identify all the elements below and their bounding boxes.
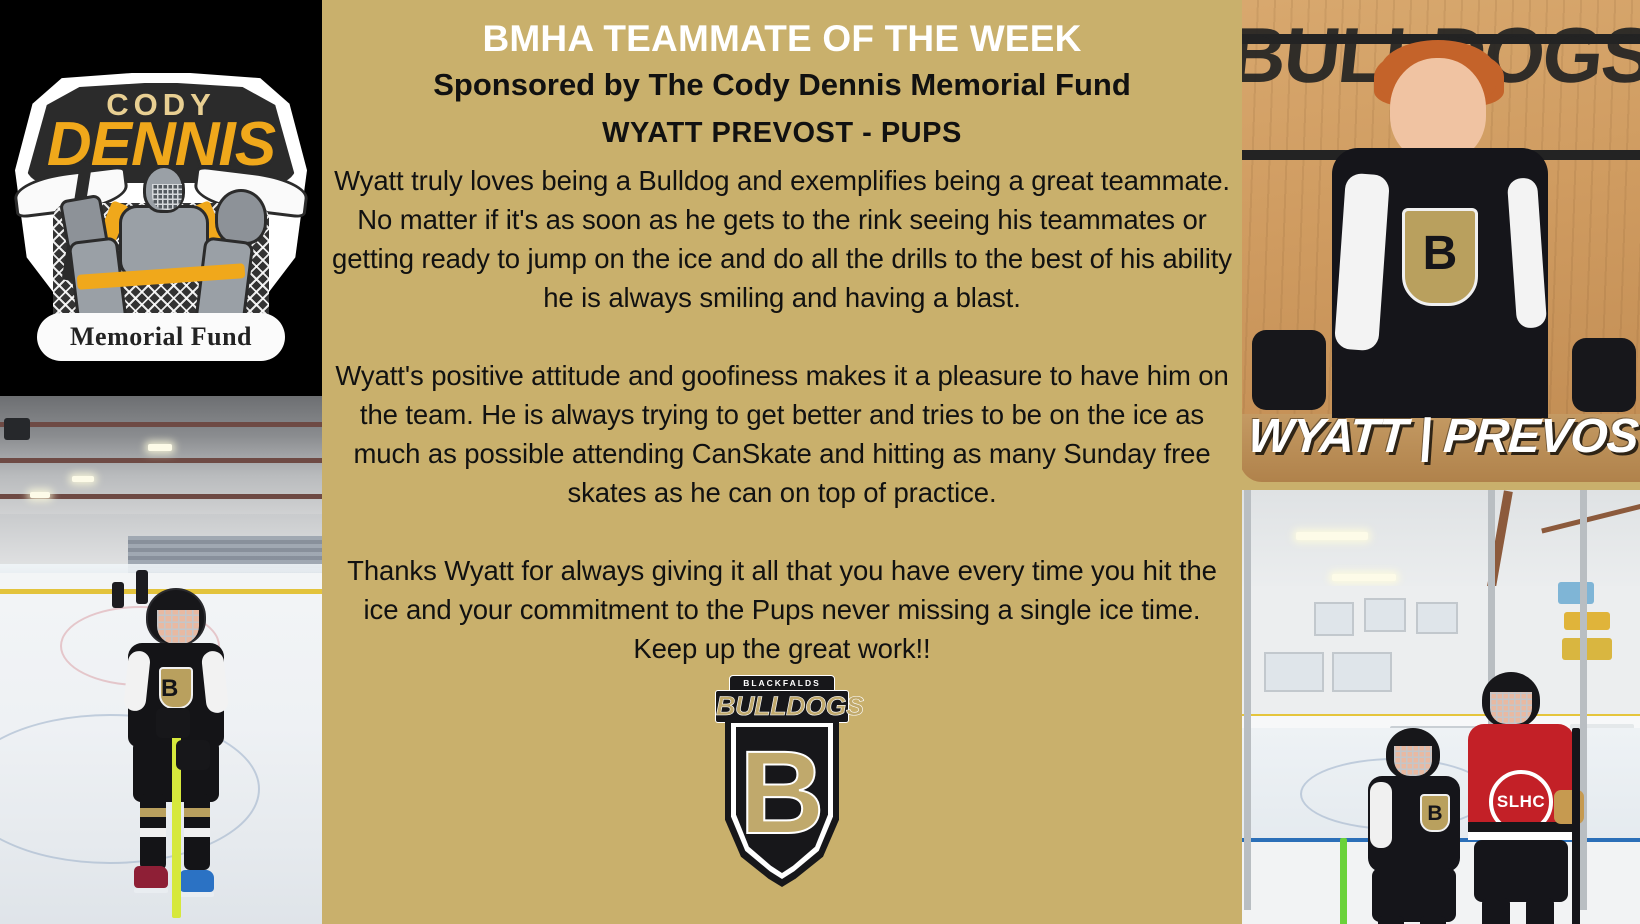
portrait-jersey-white-panel-right xyxy=(1507,177,1547,329)
honoree-name: WYATT PREVOST - PUPS xyxy=(330,116,1234,151)
left-column: CODY DENNIS Memorial Fund xyxy=(0,0,322,924)
bulldogs-logo-team-bar: BULLDOGS xyxy=(715,690,849,723)
rink-beam xyxy=(0,422,322,427)
player-glove-right xyxy=(176,740,210,770)
arena-light xyxy=(1296,532,1368,540)
rink-beam xyxy=(0,458,322,463)
action-red-pants xyxy=(1474,840,1568,902)
page-title: BMHA TEAMMATE OF THE WEEK xyxy=(330,18,1234,59)
portrait-glove-right xyxy=(1572,338,1636,412)
player-sock-right xyxy=(184,794,210,870)
player-helmet xyxy=(146,588,206,646)
action-red-cage xyxy=(1490,692,1532,724)
teammate-of-the-week-poster: CODY DENNIS Memorial Fund xyxy=(0,0,1640,924)
arena-banner xyxy=(1558,582,1594,604)
player-sock-stripe xyxy=(140,828,166,837)
logo-goalie-mask-icon xyxy=(143,165,185,213)
bulldogs-logo-team-text: BULLDOGS xyxy=(716,691,848,721)
portrait-face xyxy=(1390,58,1486,162)
bulldogs-logo-shield-inner: B xyxy=(736,727,828,873)
player-cage xyxy=(157,610,199,644)
player-sock-stripe xyxy=(184,828,210,837)
portrait-jersey-white-panel-left xyxy=(1334,173,1390,352)
logo-goalie-catcher-icon xyxy=(215,189,267,245)
bulldogs-logo-shield: B xyxy=(725,719,839,887)
logo-memorial-fund-text: Memorial Fund xyxy=(37,313,285,361)
arena-banner xyxy=(1562,638,1612,660)
paragraph-2: Wyatt's positive attitude and goofiness … xyxy=(330,356,1234,512)
rink-light xyxy=(30,492,50,498)
logo-banner: Memorial Fund xyxy=(37,313,285,361)
player-skate-blade xyxy=(134,888,168,893)
arena-glass-post xyxy=(1244,490,1251,910)
paragraph-gap xyxy=(330,512,1234,551)
rink-light xyxy=(148,444,172,451)
right-column: BULLDOGS B WYATT | PREVOST xyxy=(1240,0,1640,924)
action-red-jersey-stripe xyxy=(1468,832,1574,840)
rink-boards xyxy=(0,573,322,590)
portrait-name-overlay: WYATT | PREVOST xyxy=(1246,409,1640,464)
player-skate-left xyxy=(134,866,168,888)
action-green-stick xyxy=(1340,838,1347,924)
bulldogs-logo-shield-outline: B xyxy=(731,723,833,879)
blackfalds-bulldogs-logo: BLACKFALDS BULLDOGS B xyxy=(715,675,849,890)
arena-glass-post xyxy=(1580,490,1587,910)
action-player-sock-left xyxy=(1378,916,1404,924)
arena-window xyxy=(1332,652,1392,692)
arena-light xyxy=(1332,574,1396,581)
player-glove-left xyxy=(156,708,190,738)
action-red-sock-left xyxy=(1482,898,1510,924)
portrait-glove-left xyxy=(1252,330,1326,410)
paragraph-3: Thanks Wyatt for always giving it all th… xyxy=(330,551,1234,668)
paragraph-1: Wyatt truly loves being a Bulldog and ex… xyxy=(330,161,1234,317)
action-red-sock-right xyxy=(1526,898,1554,924)
rink-light xyxy=(72,476,94,482)
action-player-pants xyxy=(1372,868,1456,922)
arena-banner xyxy=(1564,612,1610,630)
bulldogs-logo-city-text: BLACKFALDS xyxy=(730,676,834,690)
action-player-crest: B xyxy=(1420,794,1450,832)
photo-wyatt-on-ice: B xyxy=(0,396,322,924)
portrait-jersey-crest: B xyxy=(1402,208,1478,306)
player-skate-right xyxy=(180,870,214,892)
sponsor-line: Sponsored by The Cody Dennis Memorial Fu… xyxy=(330,66,1234,104)
player-skate-blade xyxy=(180,892,214,897)
portrait-jersey-crest-letter: B xyxy=(1405,211,1475,297)
action-player-sock-right xyxy=(1420,916,1446,924)
rink-background-skater xyxy=(112,582,124,608)
cody-dennis-memorial-fund-logo: CODY DENNIS Memorial Fund xyxy=(11,25,311,371)
cody-dennis-logo-panel: CODY DENNIS Memorial Fund xyxy=(0,0,322,396)
player-jersey-crest: B xyxy=(159,667,193,709)
action-player-cage xyxy=(1394,746,1432,776)
photo-wyatt-portrait: BULLDOGS B WYATT | PREVOST xyxy=(1240,0,1640,482)
player-sock-stripe xyxy=(184,808,210,817)
arena-window xyxy=(1416,602,1458,634)
player-sock-left xyxy=(140,794,166,870)
player-shoulder-stripe-left xyxy=(123,650,151,712)
action-red-stick xyxy=(1572,728,1580,924)
rink-background-skater xyxy=(136,570,148,604)
center-content-column: BMHA TEAMMATE OF THE WEEK Sponsored by T… xyxy=(322,0,1242,924)
logo-goalie-cage xyxy=(152,184,182,210)
arena-window xyxy=(1364,598,1406,632)
arena-window xyxy=(1264,652,1324,692)
write-up-body: Wyatt truly loves being a Bulldog and ex… xyxy=(330,161,1234,668)
rink-speaker xyxy=(4,418,30,440)
bulldogs-logo-monogram: B xyxy=(736,725,828,861)
arena-window xyxy=(1314,602,1354,636)
photo-wyatt-with-teammate: B SLHC xyxy=(1240,490,1640,924)
action-player-jersey-panel xyxy=(1370,782,1392,848)
player-sock-stripe xyxy=(140,808,166,817)
portrait-jersey: B xyxy=(1332,148,1548,418)
paragraph-gap xyxy=(330,317,1234,356)
